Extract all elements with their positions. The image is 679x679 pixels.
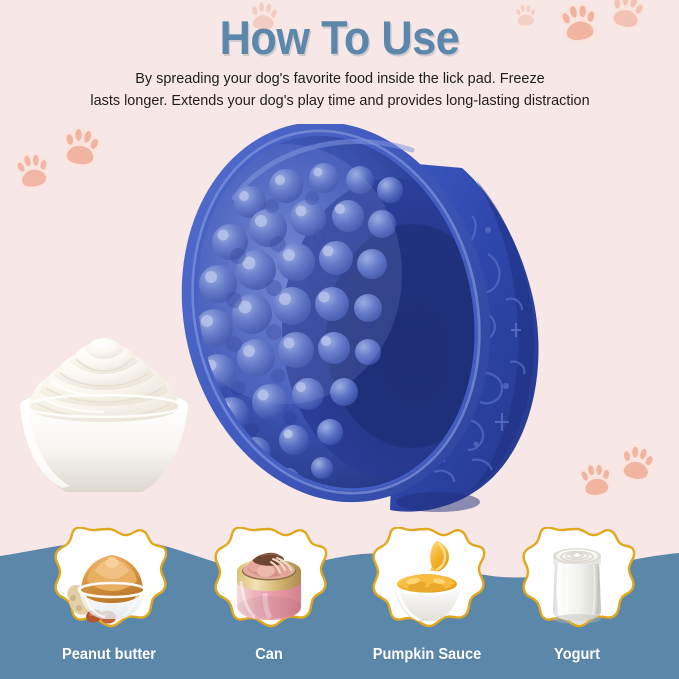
food-badge-pumpkin-sauce[interactable]: Pumpkin Sauce	[352, 527, 502, 679]
pumpkin-sauce-bowl-icon	[379, 537, 475, 629]
infographic-canvas: How To Use By spreading your dog's favor…	[0, 0, 679, 679]
badge-frame	[50, 527, 168, 639]
badge-label: Can	[199, 646, 340, 664]
whipped-cream-bowl-image	[4, 330, 204, 510]
page-subtitle: By spreading your dog's favorite food in…	[40, 68, 639, 111]
page-title: How To Use	[27, 0, 652, 62]
food-badge-row: Peanut butter	[0, 527, 679, 679]
pet-food-can-icon	[221, 537, 317, 629]
food-badge-yogurt[interactable]: Yogurt	[502, 527, 652, 679]
paw-print-icon	[9, 149, 55, 195]
paw-print-icon	[613, 441, 658, 486]
peanut-butter-jar-icon	[61, 537, 157, 629]
food-badge-peanut-butter[interactable]: Peanut butter	[34, 527, 184, 679]
header: How To Use By spreading your dog's favor…	[0, 0, 679, 111]
product-image-lick-bowl	[176, 124, 596, 534]
badge-label: Pumpkin Sauce	[357, 646, 498, 664]
badge-frame	[368, 527, 486, 639]
yogurt-jar-icon	[529, 537, 625, 629]
badge-label: Peanut butter	[39, 646, 180, 664]
subtitle-line-2: lasts longer. Extends your dog's play ti…	[40, 90, 639, 112]
subtitle-line-1: By spreading your dog's favorite food in…	[40, 68, 639, 90]
badge-label: Yogurt	[507, 646, 648, 664]
paw-print-icon	[56, 124, 104, 172]
badge-frame	[210, 527, 328, 639]
badge-frame	[518, 527, 636, 639]
food-badge-can[interactable]: Can	[194, 527, 344, 679]
